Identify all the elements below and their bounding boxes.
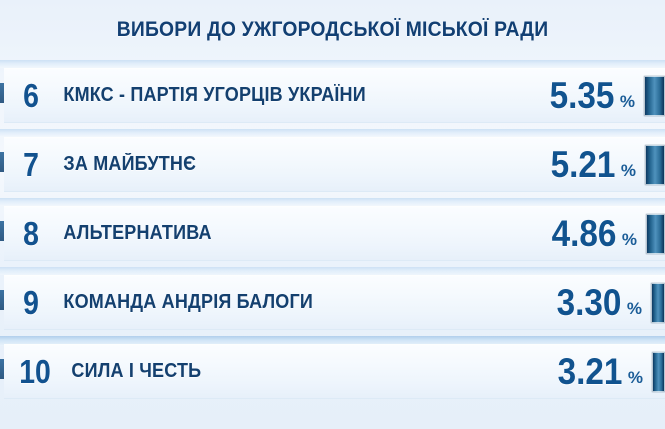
row-percent-group: 4.86 % xyxy=(548,215,641,252)
row-percent-value: 3.30 xyxy=(556,284,621,321)
row-rank: 7 xyxy=(8,148,54,181)
row-percent-value: 3.21 xyxy=(557,353,622,390)
row-party-name: КМКС - ПАРТІЯ УГОРЦІВ УКРАЇНИ xyxy=(58,84,497,107)
row-percent-value: 5.35 xyxy=(549,77,614,114)
row-percent-group: 3.30 % xyxy=(553,284,646,321)
row-accent-marker xyxy=(0,152,4,172)
table-row[interactable]: 6 КМКС - ПАРТІЯ УГОРЦІВ УКРАЇНИ 5.35 % xyxy=(4,68,665,123)
row-percent-group: 3.21 % xyxy=(554,353,647,390)
header: ВИБОРИ ДО УЖГОРОДСЬКОЇ МІСЬКОЇ РАДИ xyxy=(0,0,665,60)
list-item-wrapper: 6 КМКС - ПАРТІЯ УГОРЦІВ УКРАЇНИ 5.35 % xyxy=(0,60,665,129)
page-title: ВИБОРИ ДО УЖГОРОДСЬКОЇ МІСЬКОЇ РАДИ xyxy=(117,18,549,42)
row-percent-group: 5.21 % xyxy=(547,146,640,183)
results-board: ВИБОРИ ДО УЖГОРОДСЬКОЇ МІСЬКОЇ РАДИ 6 КМ… xyxy=(0,0,665,429)
table-row[interactable]: 8 АЛЬТЕРНАТИВА 4.86 % xyxy=(4,206,665,261)
percent-sign: % xyxy=(620,92,635,112)
table-row[interactable]: 9 КОМАНДА АНДРІЯ БАЛОГИ 3.30 % xyxy=(4,275,665,330)
percent-sign: % xyxy=(628,368,643,388)
row-bar xyxy=(651,283,665,323)
row-percent-group: 5.35 % xyxy=(546,77,639,114)
row-accent-marker xyxy=(0,290,4,310)
row-percent-value: 5.21 xyxy=(550,146,615,183)
list-item-wrapper: 8 АЛЬТЕРНАТИВА 4.86 % xyxy=(0,198,665,267)
row-bar xyxy=(644,76,665,116)
percent-sign: % xyxy=(627,299,642,319)
row-party-name: СИЛА І ЧЕСТЬ xyxy=(66,360,505,383)
row-accent-marker xyxy=(0,221,4,241)
row-rank: 9 xyxy=(8,286,54,319)
results-list: 6 КМКС - ПАРТІЯ УГОРЦІВ УКРАЇНИ 5.35 % 7… xyxy=(0,60,665,429)
row-bar xyxy=(645,145,665,185)
row-accent-marker xyxy=(0,83,4,103)
row-party-name: ЗА МАЙБУТНЄ xyxy=(58,153,498,176)
row-bar xyxy=(646,214,665,254)
row-separator xyxy=(0,60,665,68)
row-accent-marker xyxy=(0,359,4,379)
table-row[interactable]: 7 ЗА МАЙБУТНЄ 5.21 % xyxy=(4,137,665,192)
row-party-name: КОМАНДА АНДРІЯ БАЛОГИ xyxy=(58,291,503,314)
row-rank: 6 xyxy=(8,79,54,112)
row-separator xyxy=(0,198,665,206)
row-separator xyxy=(0,129,665,137)
percent-sign: % xyxy=(622,230,637,250)
list-item-wrapper: 9 КОМАНДА АНДРІЯ БАЛОГИ 3.30 % xyxy=(0,267,665,336)
list-item-wrapper: 10 СИЛА І ЧЕСТЬ 3.21 % xyxy=(0,336,665,407)
row-bar xyxy=(652,352,665,392)
table-row[interactable]: 10 СИЛА І ЧЕСТЬ 3.21 % xyxy=(4,344,665,399)
row-party-name: АЛЬТЕРНАТИВА xyxy=(58,222,499,245)
row-rank: 10 xyxy=(8,355,61,388)
row-percent-value: 4.86 xyxy=(551,215,616,252)
row-rank: 8 xyxy=(8,217,54,250)
list-item-wrapper: 7 ЗА МАЙБУТНЄ 5.21 % xyxy=(0,129,665,198)
row-separator xyxy=(0,267,665,275)
percent-sign: % xyxy=(621,161,636,181)
